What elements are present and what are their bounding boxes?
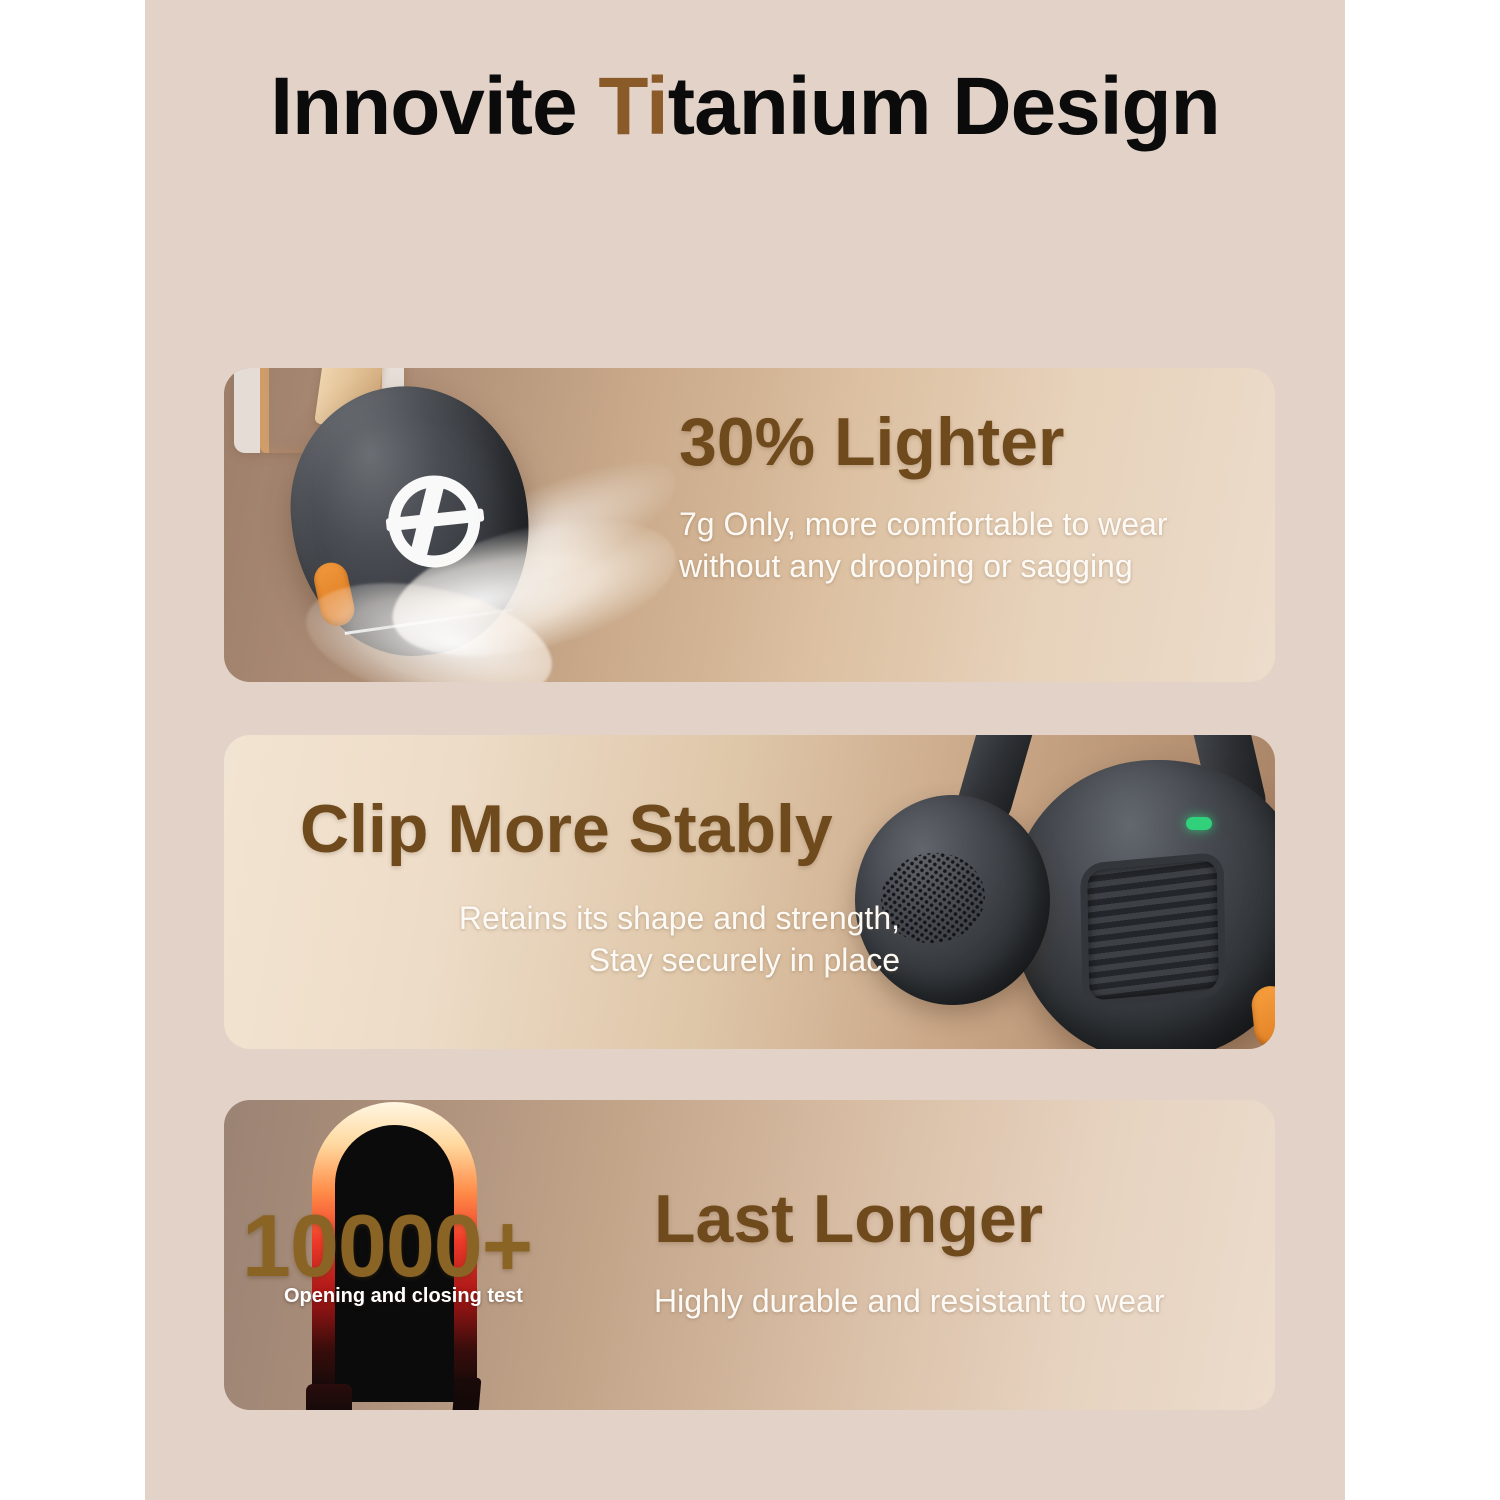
feature-card-stability: Clip More Stably Retains its shape and s…	[224, 735, 1275, 1049]
card1-headline: 30% Lighter	[679, 408, 1064, 476]
product-feature-page: Innovite Titanium Design 30% Lighter 7g …	[145, 0, 1345, 1500]
card2-headline: Clip More Stably	[300, 795, 833, 863]
feature-card-durability: 10000+ Opening and closing test Last Lon…	[224, 1100, 1275, 1410]
card2-subtext-line2: Stay securely in place	[589, 942, 900, 978]
page-title: Innovite Titanium Design	[145, 62, 1345, 152]
earbud-feather-image	[224, 368, 694, 682]
card3-headline: Last Longer	[654, 1185, 1043, 1253]
clip-foot	[306, 1384, 352, 1410]
title-suffix: tanium Design	[668, 61, 1220, 152]
card1-subtext-line2: without any drooping or sagging	[679, 548, 1133, 584]
card3-subtext: Highly durable and resistant to wear	[654, 1280, 1165, 1322]
earbud-orange-button	[1250, 984, 1275, 1049]
earbud-ribbed-grip	[1087, 859, 1219, 1001]
status-led-indicator	[1186, 817, 1212, 830]
card2-subtext-line1: Retains its shape and strength,	[459, 900, 900, 936]
earbud-closeup-image	[825, 735, 1275, 1049]
title-highlight: Ti	[598, 61, 667, 152]
durability-test-label: Opening and closing test	[284, 1285, 523, 1308]
durability-count: 10000+	[242, 1195, 532, 1297]
card1-subtext: 7g Only, more comfortable to wear withou…	[679, 503, 1168, 587]
feature-card-lighter: 30% Lighter 7g Only, more comfortable to…	[224, 368, 1275, 682]
card2-subtext: Retains its shape and strength, Stay sec…	[300, 897, 900, 981]
title-prefix: Innovite	[270, 61, 598, 152]
card1-subtext-line1: 7g Only, more comfortable to wear	[679, 506, 1168, 542]
